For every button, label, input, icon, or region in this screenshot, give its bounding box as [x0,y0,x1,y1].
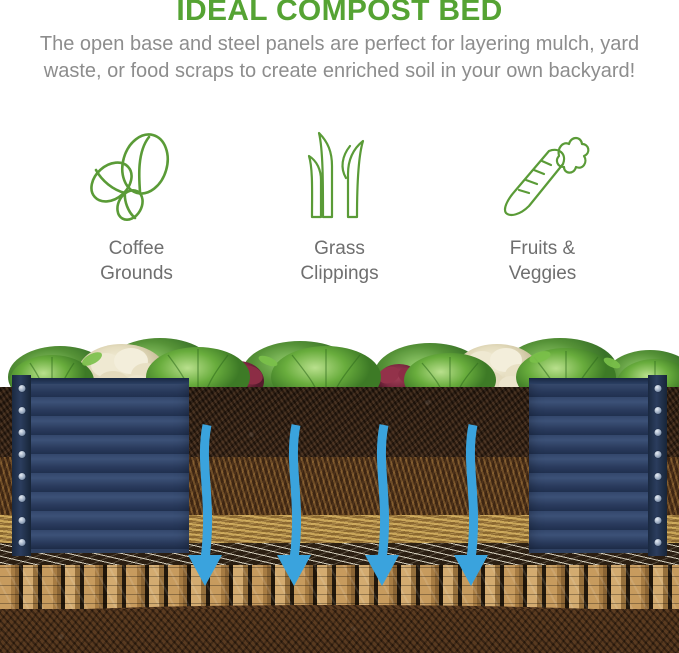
panel-bolt [18,451,25,458]
feature-item-fruits-veggies: Fruits & Veggies [441,128,644,286]
panel-bolt [654,385,661,392]
steel-panel-left [12,378,189,553]
panel-bolt [18,517,25,524]
soil-layer-ground [0,609,679,653]
panel-bolt [18,429,25,436]
corner-post-left [12,375,31,556]
feature-label: Coffee Grounds [100,236,173,286]
panel-bolt [654,429,661,436]
feature-item-coffee-grounds: Coffee Grounds [35,128,238,286]
panel-bolt [18,539,25,546]
corner-post-right [648,375,667,556]
product-photo [0,325,679,653]
grass-blades-icon [290,128,390,223]
feature-list: Coffee Grounds Grass Clippings [0,128,679,293]
panel-bolt [18,495,25,502]
panel-bolt [18,407,25,414]
steel-panel-right [529,378,667,553]
panel-bolt [654,517,661,524]
panel-bolt [654,495,661,502]
carrot-icon [493,128,593,223]
panel-top-lip [12,378,189,384]
panel-bolt [654,407,661,414]
feature-label: Fruits & Veggies [509,236,577,286]
panel-bolt [654,539,661,546]
product-feature-panel: IDEAL COMPOST BED The open base and stee… [0,0,679,653]
panel-bolt [18,473,25,480]
page-title: IDEAL COMPOST BED [0,0,679,29]
panel-top-lip [529,378,667,384]
panel-bolt [18,385,25,392]
feature-label: Grass Clippings [300,236,378,286]
coffee-beans-icon [87,128,187,223]
feature-item-grass-clippings: Grass Clippings [238,128,441,286]
panel-bolt [654,451,661,458]
page-subtitle: The open base and steel panels are perfe… [32,31,647,85]
panel-bolt [654,473,661,480]
